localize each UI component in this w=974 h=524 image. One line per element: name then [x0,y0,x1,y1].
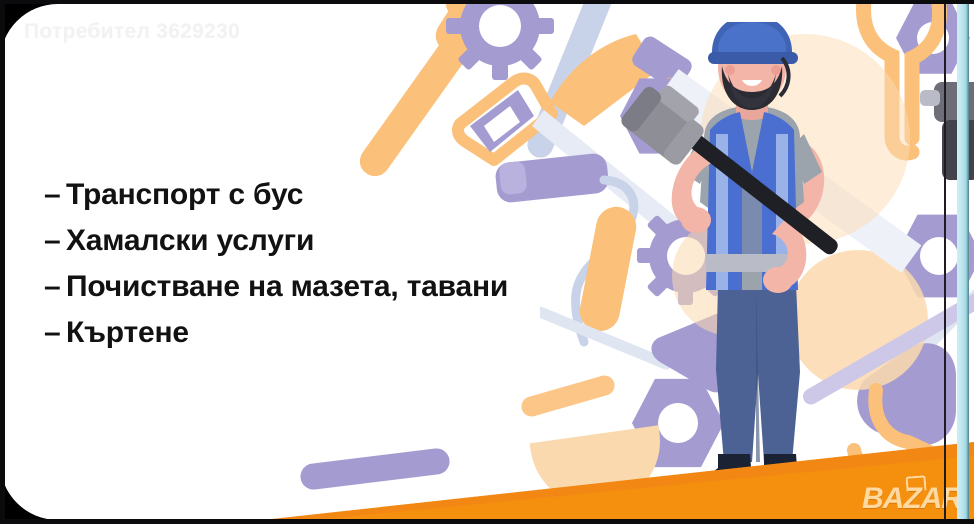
service-label: Къртене [66,310,189,356]
service-ad-banner: – Транспорт с бус – Хамалски услуги – По… [0,0,974,524]
bazar-logo-tag-icon [906,475,927,491]
list-item: – Транспорт с бус [44,172,508,218]
bullet-dash: – [44,218,66,264]
list-item: – Хамалски услуги [44,218,508,264]
user-watermark: Потребител 3629230 [24,20,240,44]
top-frame-line [0,0,974,4]
bullet-dash: – [44,310,66,356]
banner-card: – Транспорт с бус – Хамалски услуги – По… [0,4,974,520]
bullet-dash: – [44,264,66,310]
right-edge-strip [957,0,969,524]
service-label: Хамалски услуги [66,218,314,264]
right-divider-line [944,0,946,524]
crowbar-icon [299,447,451,491]
list-item: – Къртене [44,310,508,356]
list-item: – Почистване на мазета, тавани [44,264,508,310]
service-label: Почистване на мазета, тавани [66,264,508,310]
service-label: Транспорт с бус [66,172,303,218]
bullet-dash: – [44,172,66,218]
bottom-frame-line [0,519,974,524]
services-list: – Транспорт с бус – Хамалски услуги – По… [44,172,508,356]
left-frame-line [0,0,5,524]
worker-illustration [600,22,900,492]
